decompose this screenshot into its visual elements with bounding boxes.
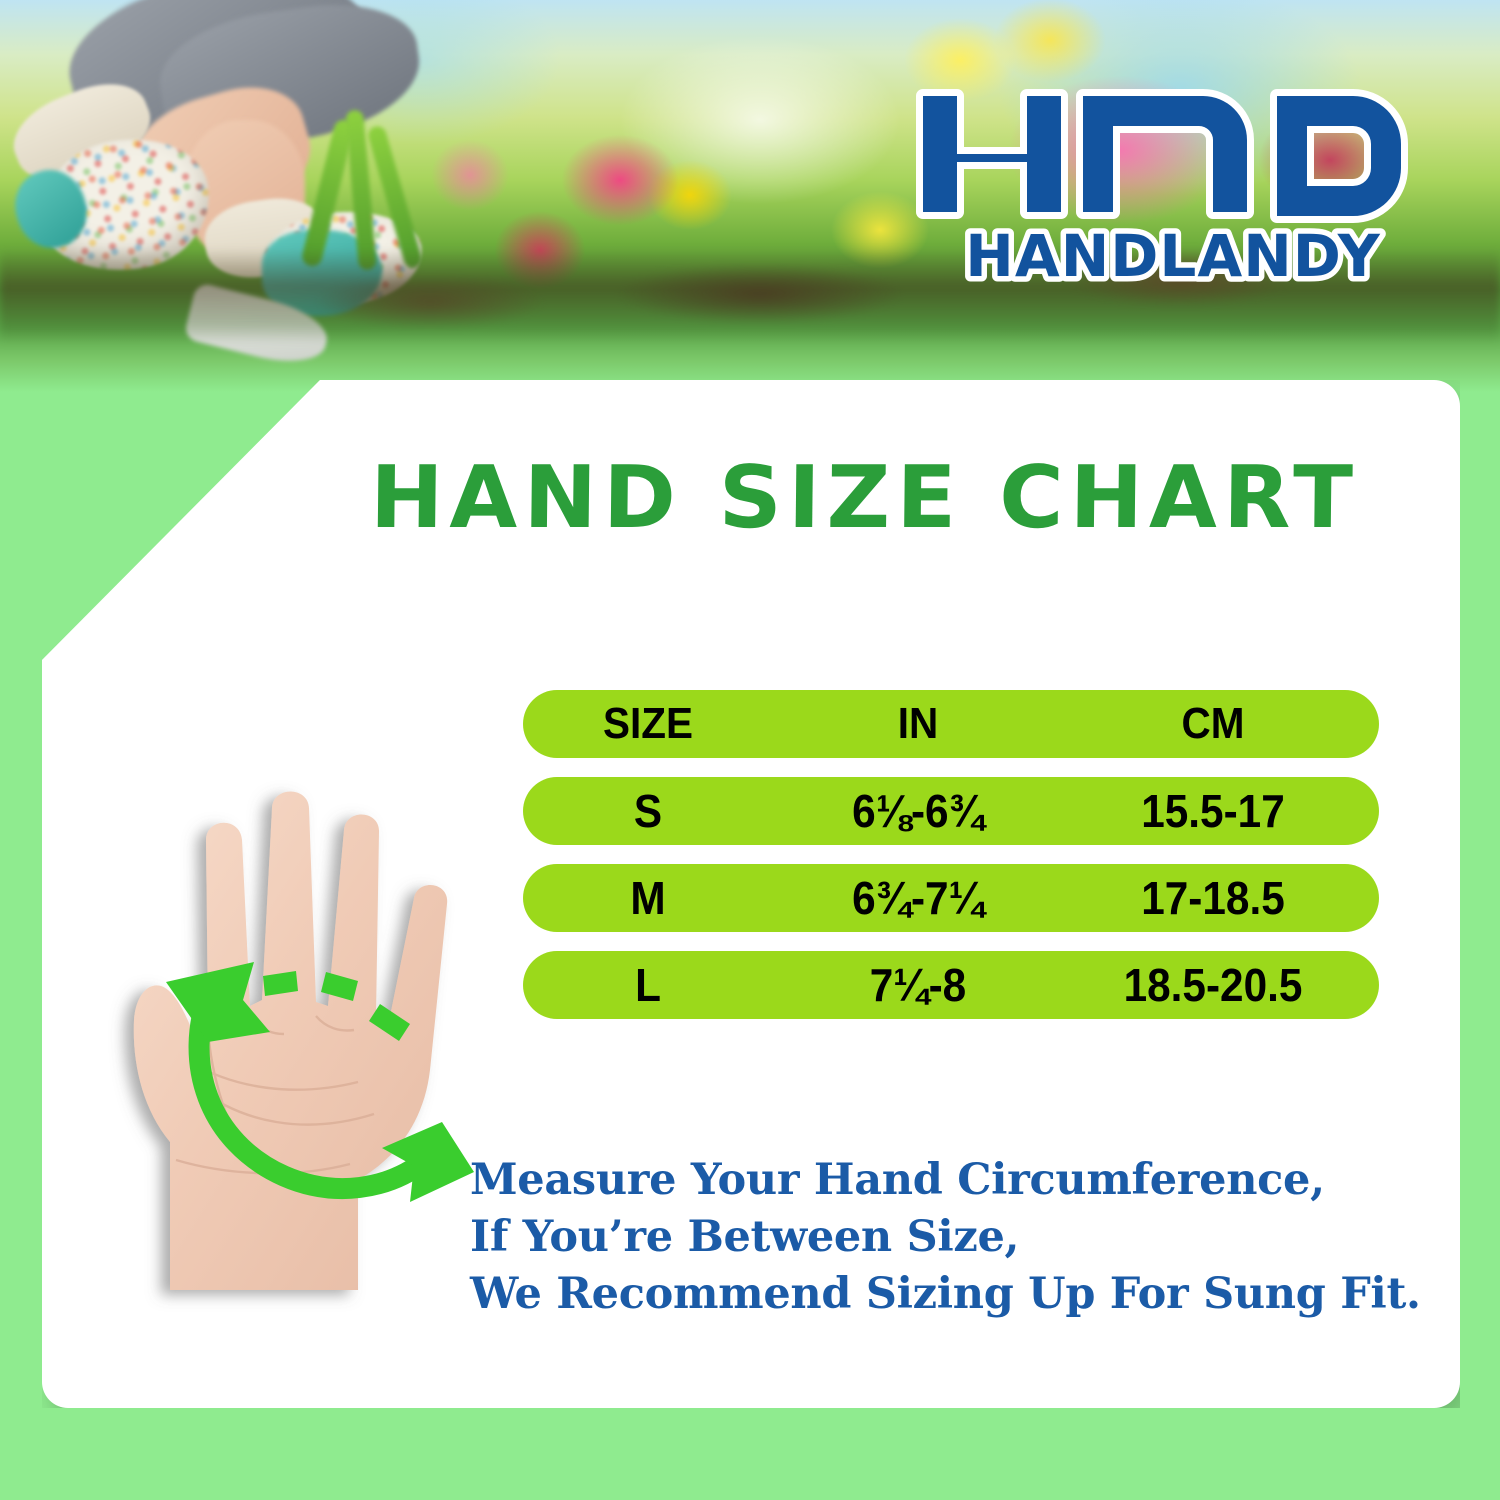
cell-in: 6¾-7¼ [785, 875, 1052, 921]
logo-wordmark: HANDLANDY [965, 222, 1380, 288]
note-line-2: If You’re Between Size, [470, 1209, 1370, 1266]
header-cm: CM [1075, 702, 1351, 746]
logo-mark [923, 96, 1401, 216]
note-line-3: We Recommend Sizing Up For Sung Fit. [470, 1266, 1370, 1323]
cell-size: S [533, 788, 763, 834]
table-row: L 7¼-8 18.5-20.5 [523, 951, 1379, 1019]
handlandy-logo: HANDLANDY HANDLANDY [915, 88, 1435, 288]
measurement-note: Measure Your Hand Circumference, If You’… [470, 1152, 1370, 1324]
cell-cm: 18.5-20.5 [1075, 962, 1351, 1008]
table-header-row: SIZE IN CM [523, 690, 1379, 758]
note-line-1: Measure Your Hand Circumference, [470, 1152, 1370, 1209]
page-title: HAND SIZE CHART [370, 455, 1452, 541]
cell-cm: 17-18.5 [1075, 875, 1351, 921]
cell-in: 6⅛-6¾ [785, 788, 1052, 834]
hand-shape [134, 792, 447, 1291]
cell-cm: 15.5-17 [1075, 788, 1351, 834]
size-chart-page: HANDLANDY HANDLANDY HAND SIZE CHART [0, 0, 1500, 1500]
cell-size: L [533, 962, 763, 1008]
hand-illustration [58, 690, 498, 1320]
cell-in: 7¼-8 [785, 962, 1052, 1008]
table-row: M 6¾-7¼ 17-18.5 [523, 864, 1379, 932]
size-table: SIZE IN CM S 6⅛-6¾ 15.5-17 M 6¾-7¼ 17-18… [523, 690, 1379, 1019]
header-size: SIZE [533, 702, 763, 746]
table-row: S 6⅛-6¾ 15.5-17 [523, 777, 1379, 845]
cell-size: M [533, 875, 763, 921]
header-in: IN [785, 702, 1052, 746]
